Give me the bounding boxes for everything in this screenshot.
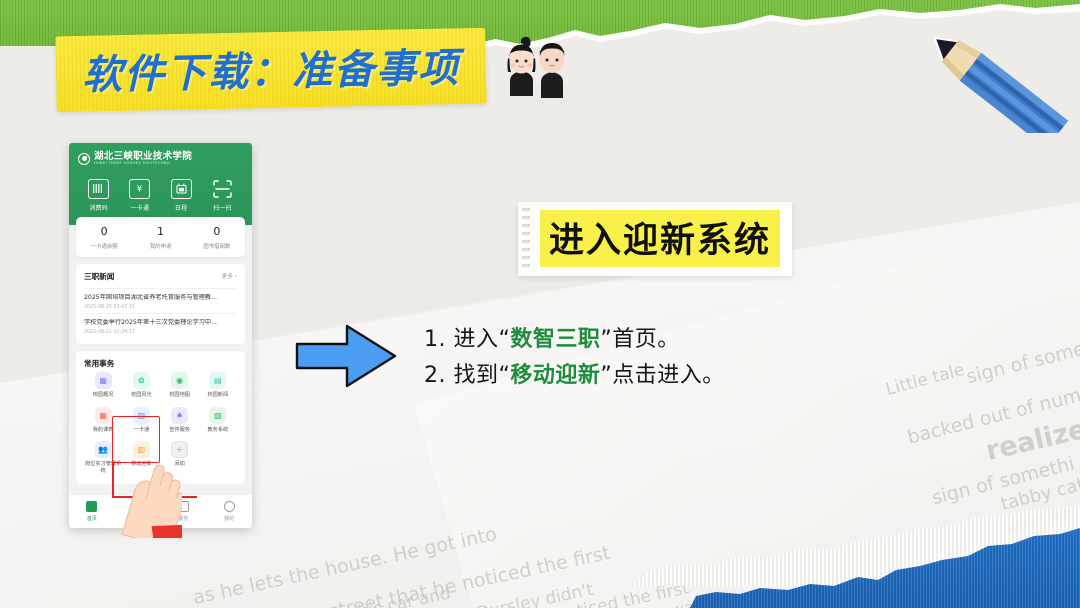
profile-icon — [224, 501, 235, 512]
publicity-service-icon: ♠ — [171, 407, 188, 424]
card-yuan-icon: ¥ — [129, 179, 150, 199]
news-card: 三职新闻 更多 › 2025年国培项目湖北省养老托育服务与管理教... 2025… — [76, 264, 245, 345]
quick-action-campus-card[interactable]: ¥ 一卡通 — [120, 179, 160, 212]
step-1-prefix: 1. 进入“ — [424, 327, 510, 352]
step-item-2: 2. 找到“移动迎新”点击进入。 — [424, 358, 844, 394]
step-2-suffix: ”点击进入。 — [600, 363, 724, 388]
pointing-hand-illustration — [100, 450, 182, 538]
campus-overview-icon: ▦ — [95, 372, 112, 389]
stat-card-balance[interactable]: 0 一卡通余额 — [76, 225, 132, 250]
quick-action-label: 一卡通 — [131, 203, 150, 212]
app-my-timetable[interactable]: ▦ 我的课表 — [84, 407, 122, 434]
school-logo: 湖北三峡职业技术学院 HUBEI THREE GORGES POLYTECHNI… — [78, 152, 243, 166]
quick-action-label: 扫一扫 — [213, 203, 232, 212]
stat-label: 图书借阅数 — [189, 242, 245, 250]
school-name-en: HUBEI THREE GORGES POLYTECHNIC — [94, 162, 192, 166]
campus-map-icon: ◉ — [171, 372, 188, 389]
stat-label: 我的申请 — [132, 242, 188, 250]
app-campus-overview[interactable]: ▦ 校园概况 — [84, 372, 122, 399]
heading-highlight: 进入迎新系统 — [540, 210, 780, 267]
app-academic-system[interactable]: ▨ 教务系统 — [199, 407, 237, 434]
news-item[interactable]: 2025年国培项目湖北省养老托育服务与管理教... 2025-08-25 03:… — [84, 288, 237, 313]
stat-value: 1 — [132, 225, 188, 238]
app-label: 教务系统 — [207, 427, 228, 434]
app-label: 宣传服务 — [169, 427, 190, 434]
quick-action-scan[interactable]: 扫一扫 — [202, 179, 242, 212]
academic-system-icon: ▨ — [209, 407, 226, 424]
stats-row: 0 一卡通余额 1 我的申请 0 图书借阅数 — [76, 217, 245, 257]
stat-label: 一卡通余额 — [76, 242, 132, 250]
news-card-title: 三职新闻 — [84, 271, 114, 282]
app-label: 校园新闻 — [207, 392, 228, 399]
news-date: 2025-08-21 01:24:17 — [84, 330, 237, 335]
slide-title-banner: 软件下载：准备事项 — [55, 28, 486, 113]
step-1-suffix: ”首页。 — [600, 327, 679, 352]
app-label: 一卡通 — [134, 427, 150, 434]
campus-card-icon: ▧ — [133, 407, 150, 424]
students-illustration — [500, 34, 578, 100]
quick-action-label: 日程 — [175, 203, 187, 212]
app-publicity-service[interactable]: ♠ 宣传服务 — [161, 407, 199, 434]
app-label: 校园风光 — [131, 392, 152, 399]
quick-action-consumption-code[interactable]: 消费码 — [79, 179, 119, 212]
news-title: 2025年国培项目湖北省养老托育服务与管理教... — [84, 294, 237, 302]
right-arrow-icon — [295, 322, 397, 390]
quick-action-label: 消费码 — [89, 203, 108, 212]
campus-news-icon: ▤ — [209, 372, 226, 389]
my-timetable-icon: ▦ — [95, 407, 112, 424]
barcode-icon — [88, 179, 109, 199]
page-title: 软件下载：准备事项 — [81, 35, 460, 101]
calendar-icon — [171, 179, 192, 199]
step-1-highlight: 数智三职 — [510, 327, 600, 352]
stat-card-applications[interactable]: 1 我的申请 — [132, 225, 188, 250]
app-campus-news[interactable]: ▤ 校园新闻 — [199, 372, 237, 399]
stat-value: 0 — [76, 225, 132, 238]
stat-card-books[interactable]: 0 图书借阅数 — [189, 225, 245, 250]
step-2-highlight: 移动迎新 — [510, 363, 600, 388]
step-2-prefix: 2. 找到“ — [424, 363, 510, 388]
news-more-link[interactable]: 更多 › — [222, 272, 237, 280]
phone-header: 湖北三峡职业技术学院 HUBEI THREE GORGES POLYTECHNI… — [69, 143, 252, 225]
heading-note-card: 进入迎新系统 — [518, 202, 792, 276]
section-heading: 进入迎新系统 — [549, 221, 771, 261]
pencil-illustration — [890, 18, 1075, 133]
campus-scenery-icon: ✿ — [133, 372, 150, 389]
news-date: 2025-08-25 03:47:31 — [84, 305, 237, 310]
app-label: 我的课表 — [93, 427, 114, 434]
quick-action-schedule[interactable]: 日程 — [161, 179, 201, 212]
news-title: 学校党委举行2025年第十三次党委理论学习中... — [84, 319, 237, 327]
apps-card-title: 常用事务 — [84, 358, 114, 369]
school-logo-mark — [78, 153, 90, 165]
scan-icon — [212, 179, 233, 199]
home-icon — [86, 501, 97, 512]
app-campus-scenery[interactable]: ✿ 校园风光 — [122, 372, 160, 399]
steps-list: 1. 进入“数智三职”首页。 2. 找到“移动迎新”点击进入。 — [424, 322, 844, 393]
quick-actions-row: 消费码 ¥ 一卡通 日程 扫一扫 — [78, 179, 243, 212]
app-label: 校园地图 — [169, 392, 190, 399]
tab-label: 我的 — [224, 515, 234, 522]
svg-text:¥: ¥ — [137, 185, 143, 194]
app-campus-card[interactable]: ▧ 一卡通 — [122, 407, 160, 434]
app-campus-map[interactable]: ◉ 校园地图 — [161, 372, 199, 399]
news-item[interactable]: 学校党委举行2025年第十三次党委理论学习中... 2025-08-21 01:… — [84, 313, 237, 338]
stat-value: 0 — [189, 225, 245, 238]
tab-label: 首页 — [87, 515, 97, 522]
app-label: 校园概况 — [93, 392, 114, 399]
step-item-1: 1. 进入“数智三职”首页。 — [424, 322, 844, 358]
tab-profile[interactable]: 我的 — [206, 501, 252, 522]
